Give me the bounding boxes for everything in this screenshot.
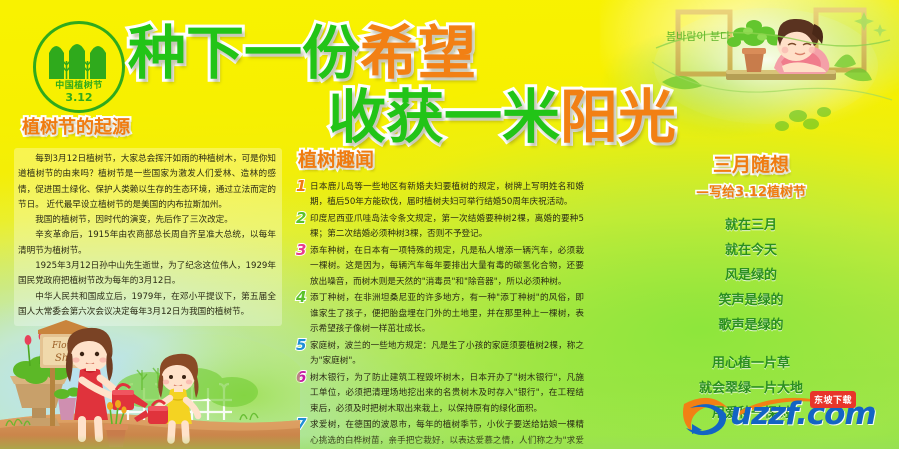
fact-item: 4 添丁种树，在非洲坦桑尼亚的许多地方，有一种"添丁种树"的风俗，即谁家生了孩子… [296, 291, 584, 337]
fact-text: 家庭树，波兰的一些地方规定：凡是生了小孩的家庭须要植树2棵，称之为"家庭树"。 [310, 339, 584, 370]
fact-number: 2 [296, 211, 309, 226]
poem-line: 歌声是绿的 [608, 314, 894, 339]
fact-item: 3 添车种树，在日本有一项特殊的规定，凡是私人增添一辆汽车，必须栽一棵树。这是因… [296, 244, 584, 290]
paragraph: 1925年3月12日孙中山先生逝世，为了纪念这位伟人，1929年国民党政府把植树… [18, 259, 276, 290]
illustration-girl-at-window: 봄바람이 분다 [648, 4, 894, 146]
fact-text: 日本鹿儿岛等一些地区有新婚夫妇要植树的规定，树牌上写明姓名和婚期，植后50年方能… [310, 180, 584, 211]
left-column-body: 每到3月12日植树节，大家总会挥汗如雨的种植树木，可是你知道植树节的由来吗？植树… [14, 148, 282, 326]
middle-column-heading: 植树趣闻 [298, 145, 584, 172]
korean-caption-text: 봄바람이 분다 [666, 30, 730, 43]
title-line-2: 收获一米阳光 [328, 88, 676, 146]
site-watermark[interactable]: uzzf.com 东坡下载 [678, 392, 892, 440]
title-line-2-green: 收获一米 [328, 83, 560, 151]
title-line-1-orange: 希望 [360, 19, 476, 87]
left-column-heading: 植树节的起源 [22, 113, 282, 139]
paragraph: 辛亥革命后，1915年由农商部总长周自齐呈准大总统，以每年清明节为植树节。 [18, 228, 276, 259]
poem-line: 就在三月 [608, 214, 894, 239]
right-column-subheading: —写给3.12植树节 [608, 181, 894, 200]
poster-canvas: 中国植树节 3.12 种下一份希望 收获一米阳光 [0, 0, 899, 449]
fact-text: 添丁种树，在非洲坦桑尼亚的许多地方，有一种"添丁种树"的风俗，即谁家生了孩子，便… [310, 291, 584, 337]
fact-text: 树木银行，为了防止建筑工程毁坏树木，日本开办了"树木银行"，凡施工单位，必须把清… [310, 371, 584, 417]
title-line-1-green: 种下一份 [128, 19, 360, 87]
fact-item: 2 印度尼西亚爪哇岛法令条文规定，第一次结婚要种树2棵，离婚的要种5棵；第二次结… [296, 212, 584, 243]
paragraph: 每到3月12日植树节，大家总会挥汗如雨的种植树木，可是你知道植树节的由来吗？植树… [18, 152, 276, 213]
fact-number: 3 [296, 243, 309, 258]
right-column-heading: 三月随想 [713, 150, 789, 177]
left-article-column: 植树节的起源 每到3月12日植树节，大家总会挥汗如雨的种植树木，可是你知道植树节… [14, 113, 282, 326]
uzzf-logo-icon [678, 394, 734, 438]
poem-line: 用心植一片草 [608, 352, 894, 377]
stanza-separator [608, 339, 894, 352]
logo-trees-icon [44, 37, 114, 81]
right-poem-column: 三月随想 —写给3.12植树节 就在三月 就在今天 风是绿的 笑声是绿的 歌声是… [608, 150, 894, 427]
watermark-badge: 东坡下载 [810, 391, 856, 408]
fact-number: 4 [296, 290, 309, 305]
illustration-children-watering-plants: Flower Shop [0, 316, 300, 449]
poem-line: 就在今天 [608, 239, 894, 264]
bottom-fade-strip [0, 435, 899, 449]
middle-article-column: 植树趣闻 1 日本鹿儿岛等一些地区有新婚夫妇要植树的规定，树牌上写明姓名和婚期，… [296, 145, 584, 449]
arbor-day-logo: 中国植树节 3.12 [33, 21, 125, 113]
fact-number: 1 [296, 179, 309, 194]
fact-item: 1 日本鹿儿岛等一些地区有新婚夫妇要植树的规定，树牌上写明姓名和婚期，植后50年… [296, 180, 584, 211]
fact-text: 添车种树，在日本有一项特殊的规定，凡是私人增添一辆汽车，必须栽一棵树。这是因为，… [310, 244, 584, 290]
poem-line: 风是绿的 [608, 264, 894, 289]
fact-text: 印度尼西亚爪哇岛法令条文规定，第一次结婚要种树2棵，离婚的要种5棵；第二次结婚必… [310, 212, 584, 243]
middle-column-body: 1 日本鹿儿岛等一些地区有新婚夫妇要植树的规定，树牌上写明姓名和婚期，植后50年… [296, 180, 584, 449]
logo-date-label: 3.12 [33, 91, 125, 104]
paragraph: 我国的植树节，因时代的演变，先后作了三次改定。 [18, 213, 276, 228]
logo-name-label: 中国植树节 [33, 78, 125, 91]
fact-item: 5 家庭树，波兰的一些地方规定：凡是生了小孩的家庭须要植树2棵，称之为"家庭树"… [296, 339, 584, 370]
poem-line: 笑声是绿的 [608, 289, 894, 314]
fact-item: 6 树木银行，为了防止建筑工程毁坏树木，日本开办了"树木银行"，凡施工单位，必须… [296, 371, 584, 417]
title-line-1: 种下一份希望 [128, 24, 476, 82]
